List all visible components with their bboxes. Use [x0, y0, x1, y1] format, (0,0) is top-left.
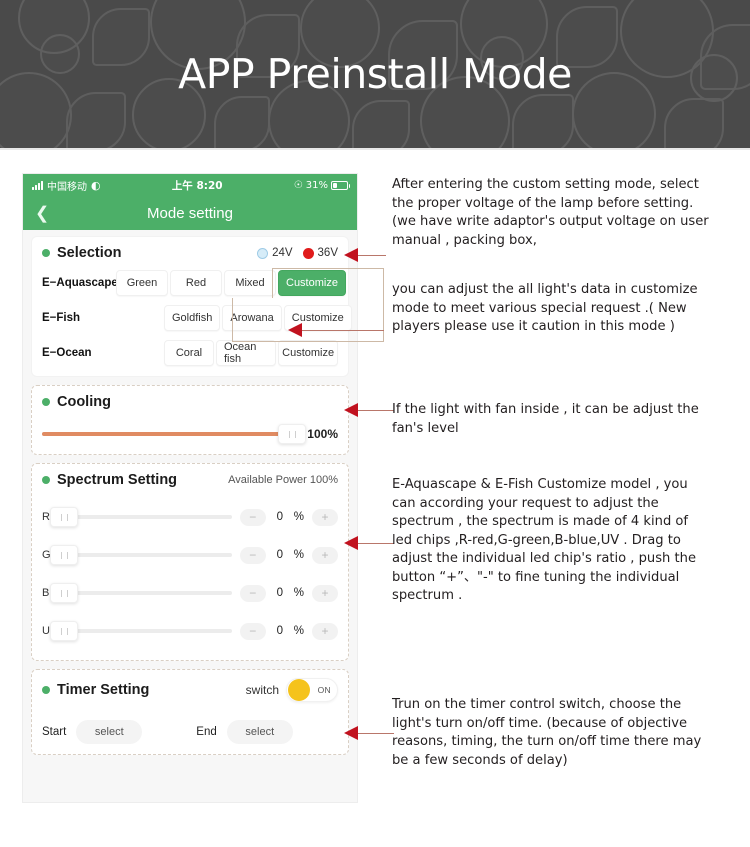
spectrum-minus-button-r[interactable]: −: [240, 509, 266, 526]
status-time: 上午 8:20: [101, 178, 294, 193]
annotation-customize: you can adjust the all light's data in c…: [392, 281, 710, 337]
annotation-timer: Trun on the timer control switch, choose…: [392, 696, 710, 770]
spectrum-plus-button-g[interactable]: +: [312, 547, 338, 564]
spectrum-minus-button-uv[interactable]: −: [240, 623, 266, 640]
leader-line-timer: [356, 733, 394, 734]
arrow-customize: [288, 323, 302, 337]
arrow-cooling: [344, 403, 358, 417]
switch-label: switch: [246, 683, 279, 697]
timer-start-select[interactable]: select: [76, 720, 142, 744]
mode-row-label: E−Fish: [42, 312, 116, 324]
section-dot-icon: [42, 398, 50, 406]
banner-divider: [0, 148, 750, 150]
spectrum-slider-handle[interactable]: [50, 507, 78, 527]
spectrum-row-r: R − 0 % +: [42, 498, 338, 536]
wifi-icon: ◐: [91, 180, 101, 191]
mode-button-coral[interactable]: Coral: [164, 340, 214, 366]
spectrum-slider-uv[interactable]: [64, 621, 232, 641]
spectrum-unit: %: [294, 511, 304, 523]
arrow-timer: [344, 726, 358, 740]
cooling-slider[interactable]: [42, 424, 292, 444]
voltage-option-24v[interactable]: 24V: [257, 247, 292, 259]
timer-end-label: End: [196, 726, 216, 738]
nav-bar: ❮ Mode setting: [23, 196, 357, 230]
customize-callout-outline: [272, 268, 384, 298]
section-dot-icon: [42, 476, 50, 484]
spectrum-slider-handle[interactable]: [50, 621, 78, 641]
spectrum-value-b: 0: [274, 587, 286, 599]
spectrum-slider-b[interactable]: [64, 583, 232, 603]
voltage-option-36v[interactable]: 36V: [303, 247, 338, 259]
timer-range-row: Start select End select: [42, 720, 338, 744]
battery-icon: [331, 181, 348, 190]
spectrum-plus-button-r[interactable]: +: [312, 509, 338, 526]
spectrum-plus-button-b[interactable]: +: [312, 585, 338, 602]
spectrum-minus-button-g[interactable]: −: [240, 547, 266, 564]
section-dot-icon: [42, 249, 50, 257]
spectrum-unit: %: [294, 549, 304, 561]
back-chevron-icon[interactable]: ❮: [35, 205, 49, 222]
timer-switch-toggle[interactable]: ON: [286, 678, 338, 702]
voltage-36v-label: 36V: [318, 247, 338, 259]
timer-switch-state: ON: [318, 685, 331, 695]
leader-line-spectrum: [356, 543, 394, 544]
cooling-slider-fill: [42, 432, 292, 436]
spectrum-minus-button-b[interactable]: −: [240, 585, 266, 602]
section-dot-icon: [42, 686, 50, 694]
page-title: APP Preinstall Mode: [0, 50, 750, 98]
mode-row-label: E−Aquascape: [42, 277, 116, 289]
mode-button-ocean-customize[interactable]: Customize: [278, 340, 338, 366]
toggle-knob-icon: [288, 679, 310, 701]
leader-line-cooling: [356, 410, 394, 411]
cooling-slider-track: [42, 432, 292, 436]
arrow-spectrum: [344, 536, 358, 550]
spectrum-slider-track: [64, 515, 232, 519]
spectrum-slider-r[interactable]: [64, 507, 232, 527]
status-bar: 中国移动 ◐ 上午 8:20 ☉ 31%: [23, 174, 357, 196]
spectrum-slider-track: [64, 553, 232, 557]
leader-line-customize: [300, 330, 384, 331]
mode-button-goldfish[interactable]: Goldfish: [164, 305, 220, 331]
spectrum-value-uv: 0: [274, 625, 286, 637]
spectrum-slider-track: [64, 629, 232, 633]
mode-button-mixed[interactable]: Mixed: [224, 270, 276, 296]
spectrum-row-g: G − 0 % +: [42, 536, 338, 574]
spectrum-slider-track: [64, 591, 232, 595]
cooling-slider-row: 100%: [42, 424, 338, 444]
selection-title: Selection: [57, 245, 121, 261]
battery-percent-label: 31%: [306, 180, 328, 191]
spectrum-plus-button-uv[interactable]: +: [312, 623, 338, 640]
cooling-slider-handle[interactable]: [278, 424, 306, 444]
spectrum-slider-handle[interactable]: [50, 583, 78, 603]
mode-row-label: E−Ocean: [42, 347, 116, 359]
carrier-label: 中国移动: [47, 178, 87, 193]
available-power-label: Available Power 100%: [228, 474, 338, 486]
timer-start-label: Start: [42, 726, 66, 738]
customize-callout-outline-lower: [232, 298, 384, 342]
alarm-icon: ☉: [294, 180, 303, 191]
spectrum-unit: %: [294, 625, 304, 637]
spectrum-value-g: 0: [274, 549, 286, 561]
spectrum-slider-handle[interactable]: [50, 545, 78, 565]
spectrum-slider-g[interactable]: [64, 545, 232, 565]
cooling-card: Cooling 100%: [31, 385, 349, 455]
page-banner: APP Preinstall Mode: [0, 0, 750, 150]
radio-off-icon: [257, 248, 268, 259]
mode-button-ocean-fish[interactable]: Ocean fish: [216, 340, 276, 366]
annotation-cooling: If the light with fan inside , it can be…: [392, 401, 710, 438]
spectrum-unit: %: [294, 587, 304, 599]
mode-row-ocean: E−Ocean Coral Ocean fish Customize: [42, 340, 338, 366]
annotation-voltage: After entering the custom setting mode, …: [392, 176, 710, 250]
spectrum-title: Spectrum Setting: [57, 472, 177, 488]
spectrum-row-uv: UV − 0 % +: [42, 612, 338, 650]
cooling-title: Cooling: [57, 394, 111, 410]
mode-button-green[interactable]: Green: [116, 270, 168, 296]
timer-end-select[interactable]: select: [227, 720, 293, 744]
spectrum-card: Spectrum Setting Available Power 100% R …: [31, 463, 349, 661]
radio-on-icon: [303, 248, 314, 259]
nav-title: Mode setting: [23, 205, 357, 222]
timer-title: Timer Setting: [57, 682, 149, 698]
leader-line-voltage: [356, 255, 386, 256]
arrow-voltage: [344, 248, 358, 262]
signal-bars-icon: [32, 181, 43, 190]
mode-button-red[interactable]: Red: [170, 270, 222, 296]
spectrum-value-r: 0: [274, 511, 286, 523]
annotation-spectrum: E-Aquascape & E-Fish Customize model , y…: [392, 476, 704, 606]
spectrum-row-b: B − 0 % +: [42, 574, 338, 612]
voltage-24v-label: 24V: [272, 247, 292, 259]
timer-card: Timer Setting switch ON Start select End: [31, 669, 349, 755]
